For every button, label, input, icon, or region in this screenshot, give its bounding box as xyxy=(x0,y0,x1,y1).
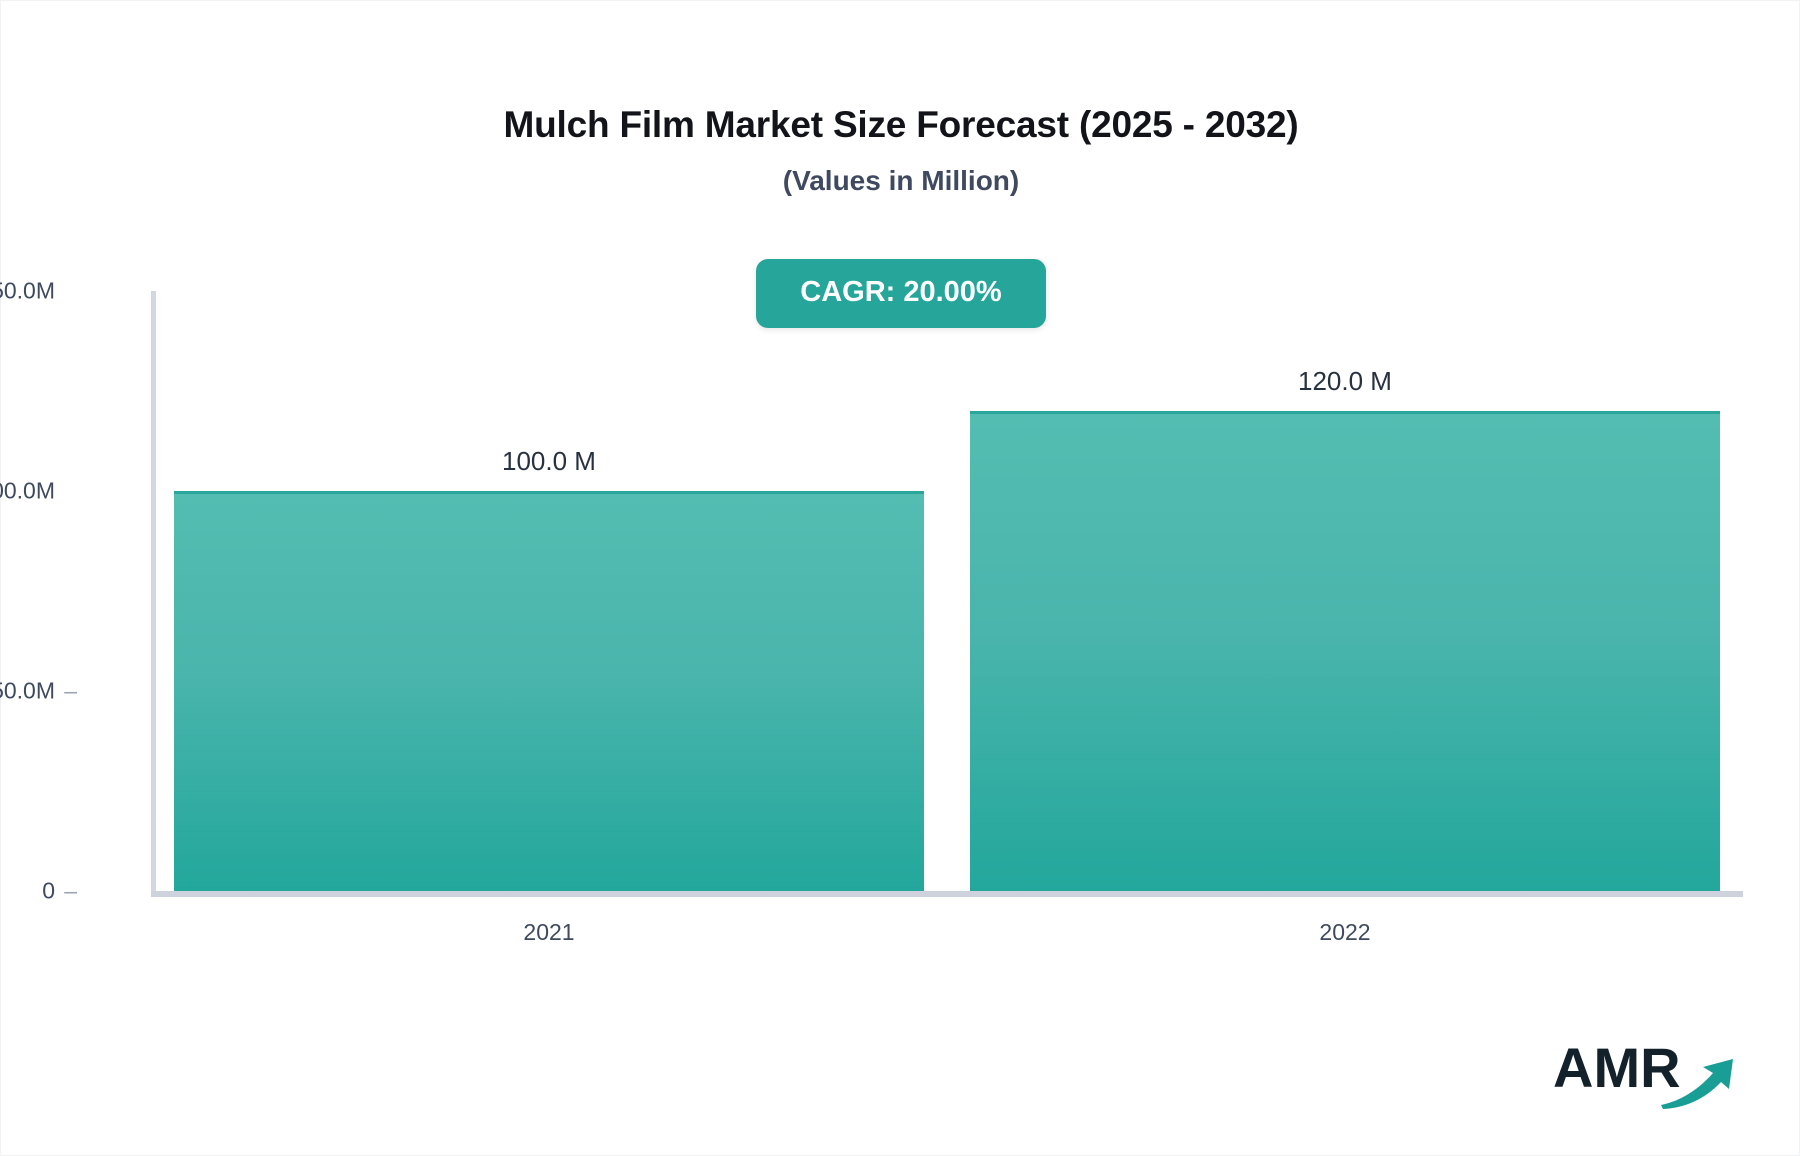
y-axis-tick-label: 50.0M xyxy=(0,678,55,704)
chart-header: Mulch Film Market Size Forecast (2025 - … xyxy=(1,105,1800,196)
y-axis-tick-label: 0 xyxy=(42,878,55,904)
y-axis-tick-150: 150.0M xyxy=(0,278,77,305)
bar-value-label-2022: 120.0 M xyxy=(970,366,1720,397)
bar-slot-2022: 120.0 M2022 xyxy=(970,291,1720,891)
bar-2022[interactable] xyxy=(970,411,1720,891)
bar-slot-2021: 100.0 M2021 xyxy=(174,291,924,891)
plot-area: 150.0M100.0M50.0M–0– 100.0 M2021120.0 M2… xyxy=(151,291,1743,891)
amr-logo: AMR xyxy=(1553,1029,1743,1117)
y-axis-tick-50: 50.0M– xyxy=(0,678,77,705)
amr-logo-text: AMR xyxy=(1553,1036,1681,1099)
chart-page: Mulch Film Market Size Forecast (2025 - … xyxy=(0,0,1800,1156)
bar-value-label-2021: 100.0 M xyxy=(174,446,924,477)
x-axis-tick-label-2021: 2021 xyxy=(174,919,924,946)
y-axis-tick-mark: – xyxy=(55,678,77,705)
amr-logo-icon: AMR xyxy=(1553,1029,1743,1117)
y-axis-tick-100: 100.0M xyxy=(0,478,77,505)
y-axis-tick-label: 100.0M xyxy=(0,478,55,504)
y-axis-tick-0: 0– xyxy=(0,878,77,905)
x-axis-tick-label-2022: 2022 xyxy=(970,919,1720,946)
y-axis-tick-label: 150.0M xyxy=(0,278,55,304)
chart-subtitle: (Values in Million) xyxy=(1,146,1800,197)
bar-2021[interactable] xyxy=(174,491,924,891)
bar-group: 100.0 M2021120.0 M2022 xyxy=(151,291,1743,891)
x-axis-baseline xyxy=(151,891,1743,897)
y-axis-tick-mark: – xyxy=(55,878,77,905)
page-title: Mulch Film Market Size Forecast (2025 - … xyxy=(1,105,1800,146)
